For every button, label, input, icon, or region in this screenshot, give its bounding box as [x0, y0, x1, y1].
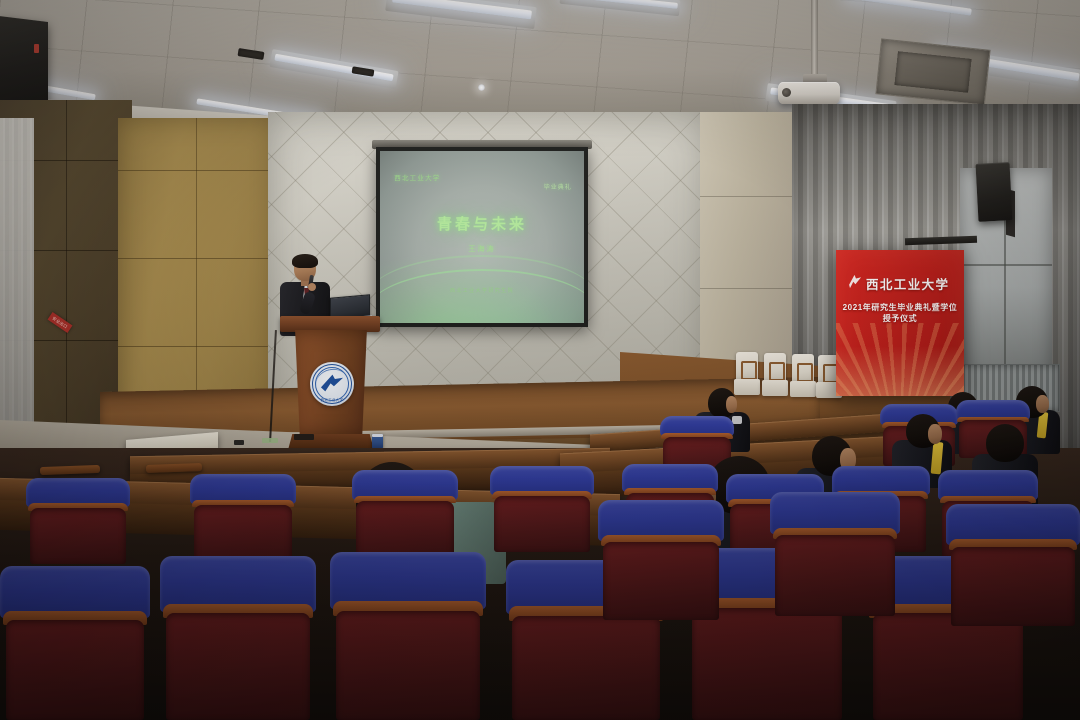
- chair-wood-frame: [797, 363, 813, 382]
- seat-r2-1: [26, 478, 130, 564]
- banner-event-title: 2021年研究生毕业典礼暨学位授予仪式: [842, 302, 958, 324]
- seat-panel: [6, 620, 144, 720]
- attendee-head: [986, 424, 1024, 462]
- slide-footer: 西北工业大学研究生院: [380, 287, 584, 294]
- podium: 西北工业大学: [288, 316, 372, 448]
- chair-wood-frame: [741, 361, 757, 380]
- seat-r2b-3: [946, 504, 1080, 626]
- seat-panel: [775, 535, 895, 616]
- seat-panel: [336, 611, 480, 720]
- seat-r2b-2: [770, 492, 900, 616]
- blue-paper-cup: [372, 434, 383, 449]
- slide-watermark-left: 西北工业大学: [394, 172, 440, 182]
- seat-panel: [166, 613, 310, 720]
- seat-panel: [873, 613, 1024, 720]
- wall-speaker-left: [0, 16, 48, 110]
- projector-lens-icon: [782, 88, 791, 97]
- seat-r2-4: [490, 466, 594, 552]
- presenter-hand: [308, 283, 316, 291]
- podium-top: [280, 316, 380, 332]
- wall-speaker-right: [976, 162, 1013, 222]
- seat-r3-2: [160, 556, 316, 720]
- ceiling-ac-vent: [875, 38, 990, 105]
- seat-panel: [494, 496, 590, 552]
- chair-wood-frame: [769, 362, 785, 381]
- projection-screen-surface: 西北工业大学 毕业典礼 青春与未来 王海涛 西北工业大学研究生院: [380, 151, 584, 323]
- seat-r2-2: [190, 474, 296, 562]
- auditorium-photo: 安全出口 西北工业大学 毕业典礼 青春与未来 王海涛 西北工业大学研究生院: [0, 0, 1080, 720]
- crest-label: 西北工业大学: [310, 397, 354, 402]
- chair-seat: [790, 381, 816, 397]
- seat-panel: [512, 616, 659, 720]
- seat-r2b-1: [598, 500, 724, 620]
- seat-r3-1: [0, 566, 150, 720]
- attendee-face: [1036, 395, 1049, 413]
- seat-panel: [692, 608, 841, 720]
- desk-item-3: [294, 434, 314, 440]
- presenter-hair: [292, 254, 318, 268]
- seat-panel: [951, 547, 1074, 626]
- speaker-indicator-icon: [34, 44, 39, 53]
- slide-watermark-right: 毕业典礼: [544, 182, 572, 191]
- projection-screen: 西北工业大学 毕业典礼 青春与未来 王海涛 西北工业大学研究生院: [376, 147, 588, 327]
- university-crest-icon: 西北工业大学: [310, 362, 354, 406]
- npu-emblem-icon: [847, 274, 862, 289]
- banner-university-name: 西北工业大学: [866, 274, 956, 293]
- seat-r2-3: [352, 470, 458, 558]
- attendee-face: [928, 424, 942, 444]
- desk-item-2: [262, 438, 278, 443]
- ceremony-banner-board: 西北工业大学 2021年研究生毕业典礼暨学位授予仪式: [836, 250, 964, 396]
- projector-pole: [811, 0, 818, 78]
- seat-r3-3: [330, 552, 486, 720]
- seat-panel: [356, 501, 454, 558]
- ceiling-downlight: [478, 84, 485, 91]
- seat-panel: [30, 508, 126, 564]
- banner-bottom-glow: [836, 346, 964, 396]
- attendee-face: [726, 396, 737, 413]
- stage-chair-3: [790, 354, 816, 400]
- seat-panel: [603, 542, 719, 620]
- stage-chair-2: [762, 353, 788, 399]
- slide-title: 青春与未来: [380, 213, 584, 234]
- slide-presenter-name: 王海涛: [380, 244, 584, 254]
- chair-seat: [762, 380, 788, 396]
- seat-panel: [194, 505, 292, 562]
- desk-item-1: [234, 440, 244, 445]
